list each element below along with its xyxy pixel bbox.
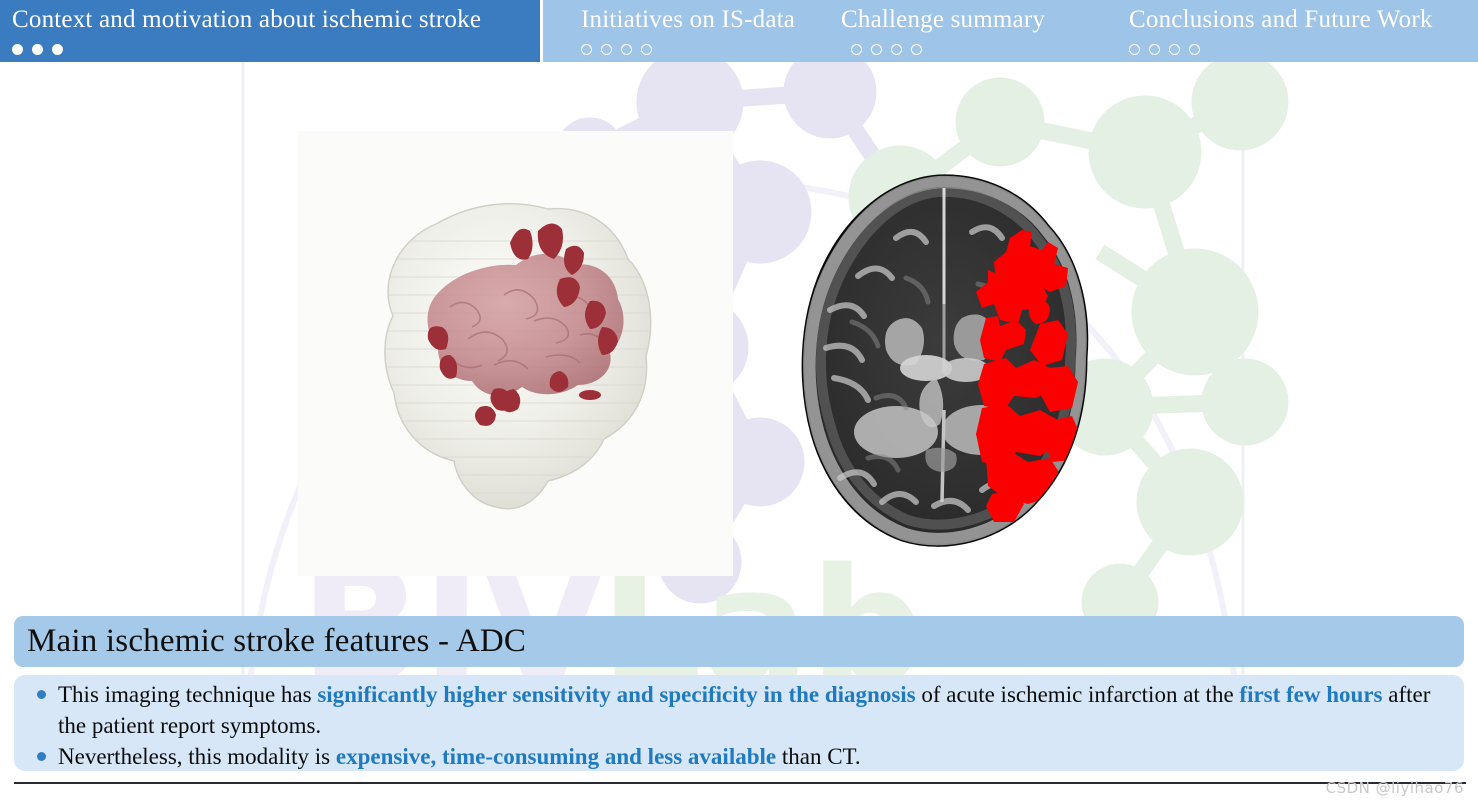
progress-dot-empty — [1189, 44, 1200, 55]
section-title-bar: Main ischemic stroke features - ADC — [14, 616, 1464, 667]
adc-mri-slice-figure — [786, 172, 1108, 557]
progress-dot-empty — [1169, 44, 1180, 55]
nav-progress-dots — [1129, 33, 1478, 60]
nav-tab-conclusions-and-future-work[interactable]: Conclusions and Future Work — [1129, 0, 1478, 62]
bullet-text: This imaging technique has significantly… — [58, 679, 1454, 741]
nav-progress-dots — [12, 33, 540, 60]
list-item: This imaging technique has significantly… — [32, 679, 1454, 741]
brain-3d-rendering-figure — [298, 131, 733, 576]
progress-dot-filled — [12, 44, 23, 55]
nav-progress-dots — [841, 33, 1129, 60]
progress-dot-empty — [641, 44, 652, 55]
progress-dot-empty — [1129, 44, 1140, 55]
progress-dot-empty — [871, 44, 882, 55]
bullet-segment-highlight: significantly higher sensitivity and spe… — [317, 682, 915, 707]
figure-area — [0, 62, 1478, 617]
nav-tab-label: Context and motivation about ischemic st… — [12, 1, 540, 33]
presentation-slide: BIV Lab Context and motivation about isc… — [0, 0, 1478, 801]
progress-dot-filled — [52, 44, 63, 55]
progress-dot-empty — [621, 44, 632, 55]
section-navigation-bar: Context and motivation about ischemic st… — [0, 0, 1478, 62]
bullet-point-icon — [37, 752, 46, 761]
adc-axial-slice-svg — [786, 172, 1108, 557]
bullet-text: Nevertheless, this modality is expensive… — [58, 741, 1454, 772]
progress-dot-filled — [32, 44, 43, 55]
page-title: Main ischemic stroke features - ADC — [14, 623, 526, 660]
list-item: Nevertheless, this modality is expensive… — [32, 741, 1454, 772]
bullet-segment-plain: than CT. — [776, 744, 861, 769]
nav-tab-context-and-motivation[interactable]: Context and motivation about ischemic st… — [0, 0, 543, 62]
brain-3d-volume-svg — [298, 131, 733, 576]
nav-tab-label: Conclusions and Future Work — [1129, 1, 1478, 33]
bullet-segment-plain: This imaging technique has — [58, 682, 317, 707]
progress-dot-empty — [851, 44, 862, 55]
csdn-watermark: CSDN @liyihao76 — [1326, 779, 1464, 797]
nav-tab-label: Challenge summary — [841, 1, 1129, 33]
lesion-segmentation-mask — [976, 230, 1080, 522]
progress-dot-empty — [581, 44, 592, 55]
bullet-segment-plain: Nevertheless, this modality is — [58, 744, 336, 769]
nav-progress-dots — [581, 33, 841, 60]
nav-tab-challenge-summary[interactable]: Challenge summary — [841, 0, 1129, 62]
body-text-panel: This imaging technique has significantly… — [14, 675, 1464, 771]
progress-dot-empty — [891, 44, 902, 55]
bullet-point-icon — [37, 690, 46, 699]
bullet-segment-highlight: first few hours — [1239, 682, 1382, 707]
bullet-segment-highlight: expensive, time-consuming and less avail… — [336, 744, 776, 769]
footer-divider — [14, 782, 1466, 784]
progress-dot-empty — [601, 44, 612, 55]
bullet-segment-plain: of acute ischemic infarction at the — [916, 682, 1240, 707]
progress-dot-empty — [1149, 44, 1160, 55]
nav-tab-initiatives-on-is-data[interactable]: Initiatives on IS-data — [543, 0, 841, 62]
nav-tab-label: Initiatives on IS-data — [581, 1, 841, 33]
progress-dot-empty — [911, 44, 922, 55]
